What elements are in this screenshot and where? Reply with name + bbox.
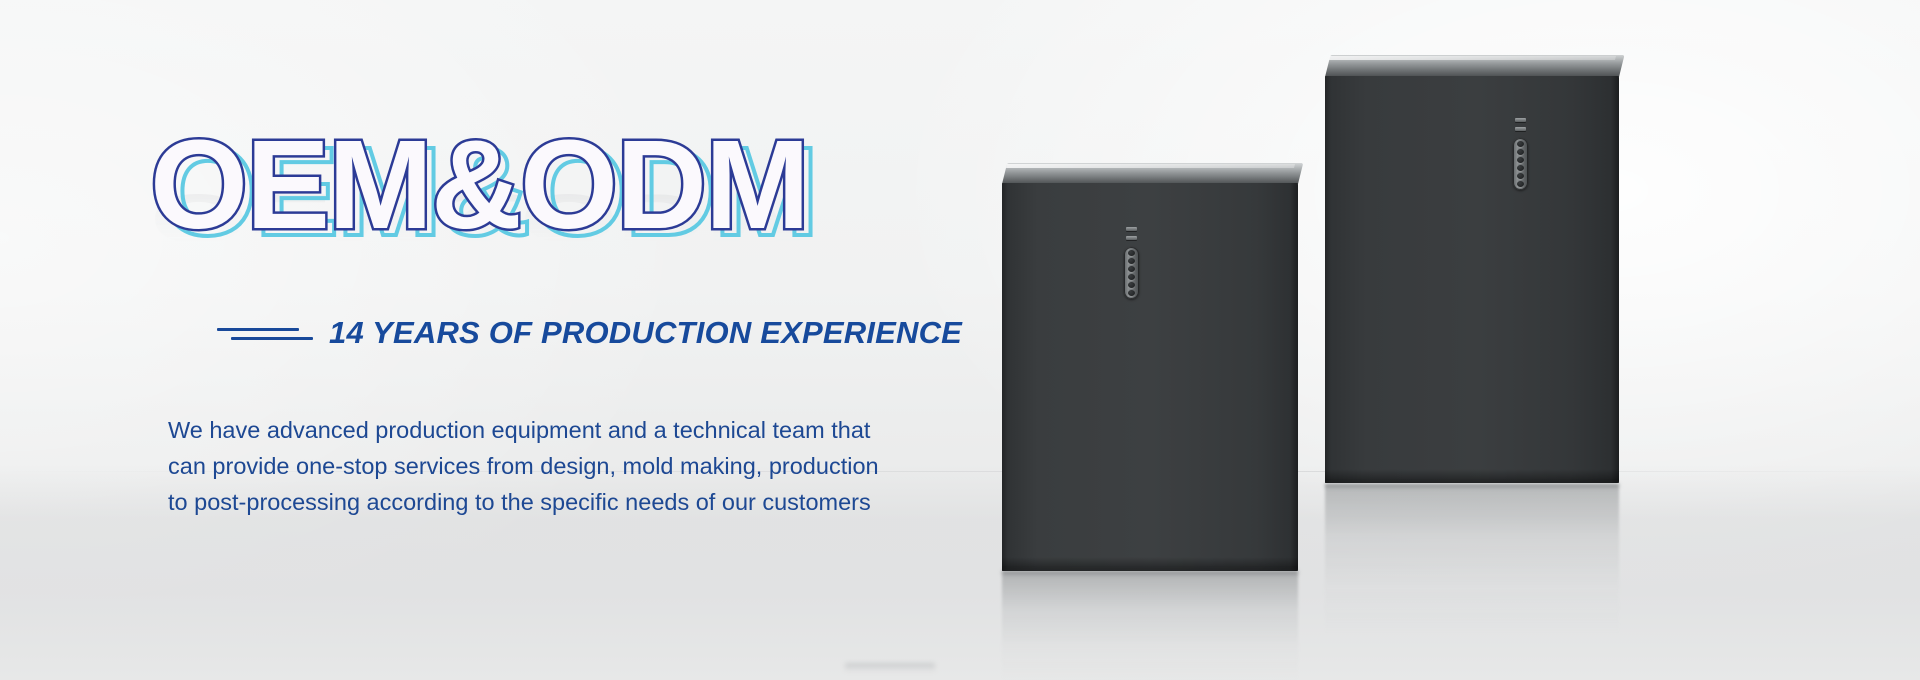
front-cabinet-right-edge	[1290, 183, 1298, 571]
front-cabinet-led-pill	[1124, 247, 1139, 299]
body-line-1: We have advanced production equipment an…	[168, 412, 998, 448]
rear-cabinet-led-dot-5	[1517, 173, 1524, 179]
front-cabinet-left-edge	[1002, 183, 1008, 571]
front-cabinet-led-dot-1	[1128, 250, 1135, 256]
rear-cabinet-bottom-shadow	[1325, 469, 1619, 483]
front-cabinet-led-mark-2	[1126, 236, 1137, 240]
front-cabinet-led-indicator	[1124, 227, 1139, 299]
promo-banner: OEM&ODM OEM&ODM OEM&ODM OEM&ODM 14 YEARS…	[0, 0, 1920, 680]
bottom-edge-artifact	[845, 663, 935, 672]
rear-cabinet-led-dot-3	[1517, 157, 1524, 163]
rear-cabinet-led-dot-6	[1517, 181, 1524, 187]
rear-cabinet-top-highlight	[1329, 56, 1616, 60]
front-cabinet-contact-shadow	[1002, 571, 1298, 574]
rule-bottom	[231, 337, 313, 340]
product-imagery	[1000, 0, 1920, 680]
front-cabinet-led-marks	[1126, 227, 1137, 244]
rear-cabinet-led-mark-2	[1515, 127, 1526, 131]
body-copy: We have advanced production equipment an…	[168, 412, 998, 520]
front-cabinet-bottom-shadow	[1002, 557, 1298, 571]
rear-cabinet-right-edge	[1611, 76, 1619, 483]
rear-cabinet-led-dot-2	[1517, 149, 1524, 155]
front-cabinet-reflection	[1002, 571, 1298, 680]
front-cabinet-led-dot-5	[1128, 282, 1135, 288]
rear-cabinet-reflection	[1325, 484, 1619, 634]
copy-block: OEM&ODM OEM&ODM OEM&ODM OEM&ODM 14 YEARS…	[150, 122, 1070, 254]
rear-cabinet-led-dot-1	[1517, 141, 1524, 147]
rear-cabinet-led-pill	[1513, 138, 1528, 190]
front-cabinet-top-highlight	[1006, 164, 1295, 168]
front-cabinet-led-dot-4	[1128, 274, 1135, 280]
body-line-2: can provide one-stop services from desig…	[168, 448, 998, 484]
rear-cabinet-led-mark-1	[1515, 118, 1526, 122]
front-cabinet-led-dot-2	[1128, 258, 1135, 264]
rule-top	[217, 328, 299, 331]
front-cabinet-led-mark-1	[1126, 227, 1137, 231]
double-rule-icon	[217, 323, 313, 343]
subtitle-row: 14 YEARS OF PRODUCTION EXPERIENCE	[217, 316, 962, 350]
subtitle-text: 14 YEARS OF PRODUCTION EXPERIENCE	[329, 316, 962, 350]
body-line-3: to post-processing according to the spec…	[168, 484, 998, 520]
front-cabinet-face	[1002, 183, 1298, 571]
rear-cabinet-led-marks	[1515, 118, 1526, 135]
front-cabinet-led-dot-6	[1128, 290, 1135, 296]
rear-cabinet-led-dot-4	[1517, 165, 1524, 171]
headline-wrap: OEM&ODM OEM&ODM OEM&ODM OEM&ODM	[150, 122, 1070, 254]
rear-cabinet-contact-shadow	[1325, 484, 1619, 487]
front-cabinet-led-dot-3	[1128, 266, 1135, 272]
rear-cabinet-face	[1325, 76, 1619, 483]
page-title: OEM&ODM	[150, 122, 808, 248]
rear-cabinet-left-edge	[1325, 76, 1331, 483]
rear-cabinet-led-indicator	[1513, 118, 1528, 190]
